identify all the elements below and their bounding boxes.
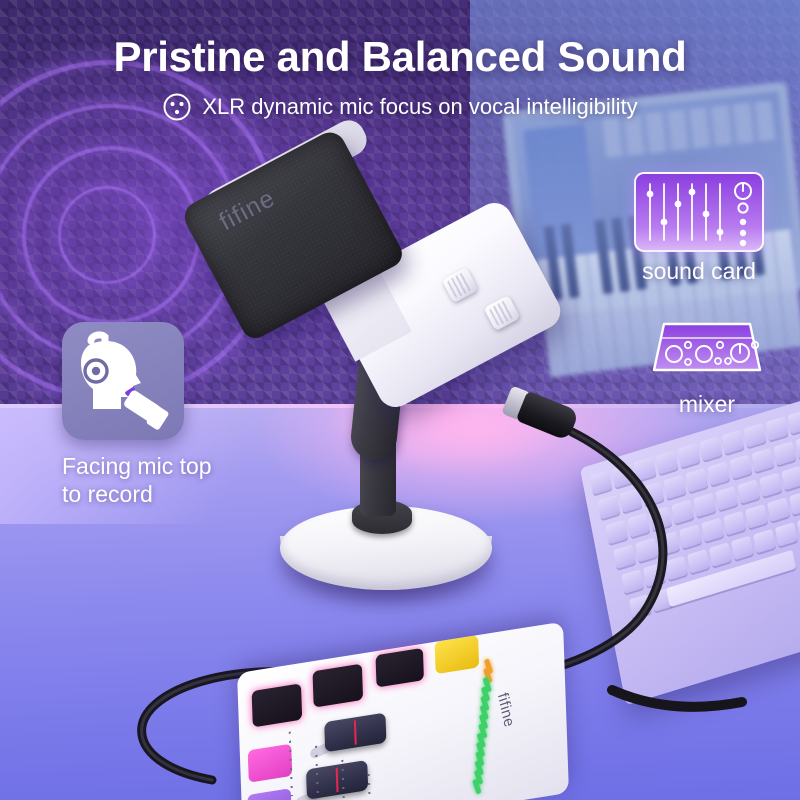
page-title: Pristine and Balanced Sound: [0, 33, 800, 81]
mixer-knobs-panel-icon: [648, 314, 766, 378]
callout-sound-card-label: sound card: [634, 258, 764, 285]
mixer-pad-yellow[interactable]: [435, 635, 480, 674]
mixer-pad-dark-2[interactable]: [312, 664, 363, 708]
product-banner: fifine fifine Pristine and Balanced Soun…: [0, 0, 800, 800]
mixer-fader-1[interactable]: [324, 713, 386, 753]
sound-card-faders-icon: [634, 172, 764, 252]
mixer-brand-logo: fifine: [494, 691, 518, 730]
mixer-scale-ticks: [289, 732, 293, 797]
callout-sound-card: sound card: [634, 172, 764, 285]
mixer-pad-dark-1[interactable]: [252, 683, 303, 727]
callout-mixer: mixer: [648, 314, 766, 418]
xlr-connector-icon: [162, 92, 192, 122]
page-subtitle: XLR dynamic mic focus on vocal intelligi…: [202, 94, 637, 120]
mixer-pad-dark-3[interactable]: [375, 648, 424, 688]
headset-head-facing-mic-icon: [62, 322, 184, 440]
subtitle-row: XLR dynamic mic focus on vocal intelligi…: [0, 92, 800, 122]
mixer-scale-ticks: [368, 774, 372, 800]
callout-mixer-label: mixer: [648, 391, 766, 418]
glow-ring-inner: [58, 186, 156, 284]
callout-facing-mic-label: Facing mic top to record: [62, 452, 212, 508]
mixer-pad-pink[interactable]: [248, 744, 293, 783]
callout-facing-mic: Facing mic top to record: [62, 322, 212, 508]
mixer-pad-violet[interactable]: [247, 788, 292, 800]
